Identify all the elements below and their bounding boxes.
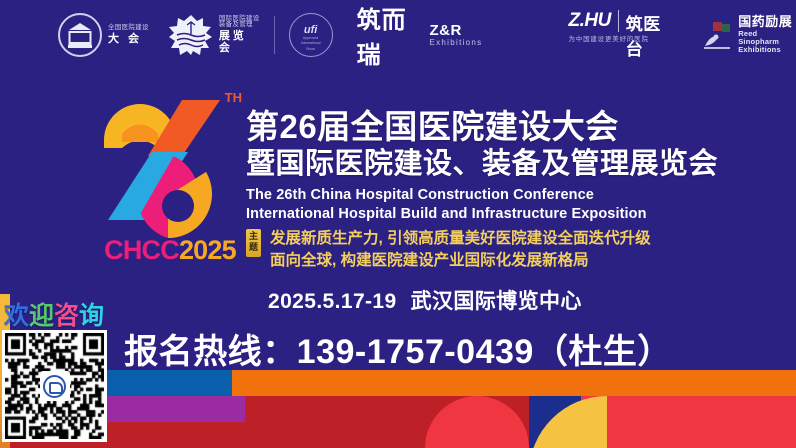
theme-badge: 主 题 — [246, 229, 261, 257]
theme-text: 发展新质生产力, 引领高质量美好医院建设全面迭代升级 面向全球, 构建医院建设产… — [270, 228, 651, 273]
event-venue: 武汉国际博览中心 — [411, 290, 582, 313]
theme-badge-char2: 题 — [246, 242, 261, 253]
bottom-color-bands — [0, 370, 796, 448]
chcc-26-logo: TH CHCC2025 — [96, 88, 244, 266]
poster-image: 全国医院建设 大 会 国际医院建设 装备及管理 展览会 ufi Approv — [0, 0, 796, 448]
welcome-char-2: 迎 — [29, 302, 54, 330]
org-seal-small-label: 全国医院建设 — [108, 25, 149, 32]
theme-line1: 发展新质生产力, 引领高质量美好医院建设全面迭代升级 — [270, 228, 651, 250]
expo-mark-text: 国际医院建设 装备及管理 展览会 — [219, 16, 260, 55]
zhu-logo: Z.HU 筑医台 为中国建设更美好的医院 — [568, 10, 673, 60]
ufi-label: ufi — [290, 24, 332, 36]
header-logo-bar: 全国医院建设 大 会 国际医院建设 装备及管理 展览会 ufi Approv — [0, 0, 796, 70]
page-title-en-line2: International Hospital Build and Infrast… — [246, 205, 647, 224]
hotline-text: 报名热线：139-1757-0439（杜生） — [0, 324, 796, 373]
expo-mark-small-label-2: 装备及管理 — [219, 22, 260, 29]
org-seal-text: 全国医院建设 大 会 — [108, 25, 149, 45]
zr-english-sub: Exhibitions — [429, 39, 482, 47]
page-title-en-line1: The 26th China Hospital Construction Con… — [246, 186, 647, 205]
qr-center-emblem-icon — [40, 371, 70, 401]
building-seal-icon — [58, 13, 102, 57]
reed-logo: 国药励展 Reed Sinopharm Exhibitions — [701, 15, 796, 55]
welcome-char-1: 欢 — [4, 302, 29, 330]
numeral-26-graphic — [96, 88, 244, 238]
zr-chinese-name: 筑而瑞 — [357, 0, 426, 70]
zr-english-block: Z&R Exhibitions — [429, 23, 482, 47]
reed-chinese-name: 国药励展 — [738, 15, 796, 30]
reed-english-line2: Exhibitions — [738, 46, 796, 54]
zr-logo: 筑而瑞 Z&R Exhibitions — [357, 0, 483, 70]
chcc-wordmark: CHCC2025 — [96, 235, 244, 266]
theme-line2: 面向全球, 构建医院建设产业国际化发展新格局 — [270, 250, 651, 272]
event-date: 2025.5.17-19 — [268, 290, 397, 313]
org-seal-logo: 全国医院建设 大 会 — [58, 13, 149, 57]
ordinal-suffix-label: TH — [225, 90, 242, 105]
reed-english-line1: Reed Sinopharm — [738, 30, 796, 47]
welcome-consult-label: 欢迎咨询 — [4, 296, 104, 332]
reed-sinopharm-icon — [701, 20, 733, 50]
ufi-circle-icon: ufi ApprovedInternationalShow — [289, 13, 333, 57]
welcome-char-4: 询 — [79, 302, 104, 330]
theme-badge-char1: 主 — [246, 231, 261, 242]
zhu-wordmark: Z.HU — [568, 10, 610, 32]
org-seal-big-label: 大 会 — [108, 34, 149, 46]
chcc-wordmark-part2: 2025 — [179, 235, 236, 265]
header-divider — [274, 16, 275, 54]
band-orange — [232, 370, 796, 396]
qr-consult-panel: 欢迎咨询 — [0, 294, 118, 448]
theme-block: 主 题 发展新质生产力, 引领高质量美好医院建设全面迭代升级 面向全球, 构建医… — [246, 228, 651, 273]
page-title-en: The 26th China Hospital Construction Con… — [246, 186, 647, 224]
expo-mark-logo: 国际医院建设 装备及管理 展览会 — [169, 14, 260, 56]
zhu-tagline: 为中国建设更美好的医院 — [568, 33, 648, 43]
ufi-sublabel: ApprovedInternationalShow — [290, 36, 332, 52]
welcome-char-3: 咨 — [54, 302, 79, 330]
snowflake-icon — [169, 14, 213, 56]
zhu-divider — [618, 10, 619, 32]
chcc-wordmark-part1: CHCC — [104, 235, 179, 265]
qr-code-icon[interactable] — [2, 330, 107, 442]
reed-text-block: 国药励展 Reed Sinopharm Exhibitions — [738, 15, 796, 55]
zr-english-name: Z&R — [429, 23, 482, 39]
expo-mark-big-label: 展览会 — [219, 31, 260, 54]
page-title-cn-line2: 暨国际医院建设、装备及管理展览会 — [246, 140, 718, 182]
event-date-venue: 2025.5.17-19武汉国际博览中心 — [268, 285, 582, 315]
